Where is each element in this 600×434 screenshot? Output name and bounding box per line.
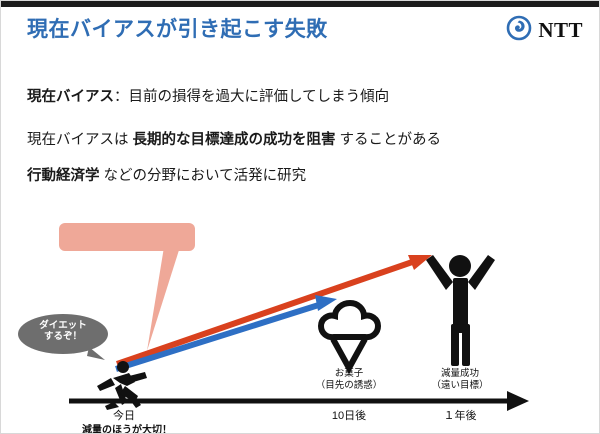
body-line-3-bold: 行動経済学 <box>27 168 100 184</box>
gray-bubble-line-2: するぞ！ <box>44 331 82 342</box>
ntt-logo-text: NTT <box>538 20 583 41</box>
body-line-1: 現在バイアス：目前の損得を過大に評価してしまう傾向 <box>27 89 389 106</box>
body-line-2-post: することがある <box>336 132 442 148</box>
body-line-1-rest: ：目前の損得を過大に評価してしまう傾向 <box>114 89 389 105</box>
axis-tick-ten-days: 10日後 <box>304 407 394 423</box>
temptation-label-1: お菓子 <box>335 368 364 379</box>
slide-header: 現在バイアスが引き起こす失敗 NTT <box>1 7 600 53</box>
goal-label: 減量成功 （遠い目標） <box>410 368 510 392</box>
page-title: 現在バイアスが引き起こす失敗 <box>27 13 328 43</box>
temptation-label-2: （目先の誘惑） <box>316 380 383 391</box>
goal-label-1: 減量成功 <box>441 368 479 379</box>
ntt-circle-logo-icon <box>506 15 532 46</box>
blue-short-term-arrow <box>116 295 337 369</box>
ice-cream-cone-icon <box>321 303 378 368</box>
celebrating-person-icon <box>426 255 495 366</box>
body-line-3: 行動経済学 などの分野において活発に研究 <box>27 168 306 185</box>
body-line-2-pre: 現在バイアスは <box>27 132 133 148</box>
gray-bubble-text: ダイエット するぞ！ <box>18 320 108 343</box>
axis-tick-today: 今日 <box>79 407 169 423</box>
body-line-2: 現在バイアスは 長期的な目標達成の成功を阻害 することがある <box>27 132 441 149</box>
temptation-label: お菓子 （目先の誘惑） <box>299 368 399 392</box>
body-line-1-bold: 現在バイアス <box>27 89 114 105</box>
body-line-2-bold: 長期的な目標達成の成功を阻害 <box>133 132 336 148</box>
goal-label-2: （遠い目標） <box>431 380 488 391</box>
body-line-3-rest: などの分野において活発に研究 <box>100 168 307 184</box>
gray-bubble-line-1: ダイエット <box>39 320 86 331</box>
axis-tick-one-year: １年後 <box>415 407 505 423</box>
bias-diagram: 減量のほうが大切！ ダイエット するぞ！ お菓子 （目先の誘惑） 減量成功 （遠… <box>1 206 600 434</box>
slide-canvas: 現在バイアスが引き起こす失敗 NTT 現在バイアス：目前の損得を過大に評価してし… <box>0 0 600 434</box>
ntt-logo: NTT <box>506 15 583 46</box>
pink-bubble-text: 減量のほうが大切！ <box>63 425 191 434</box>
